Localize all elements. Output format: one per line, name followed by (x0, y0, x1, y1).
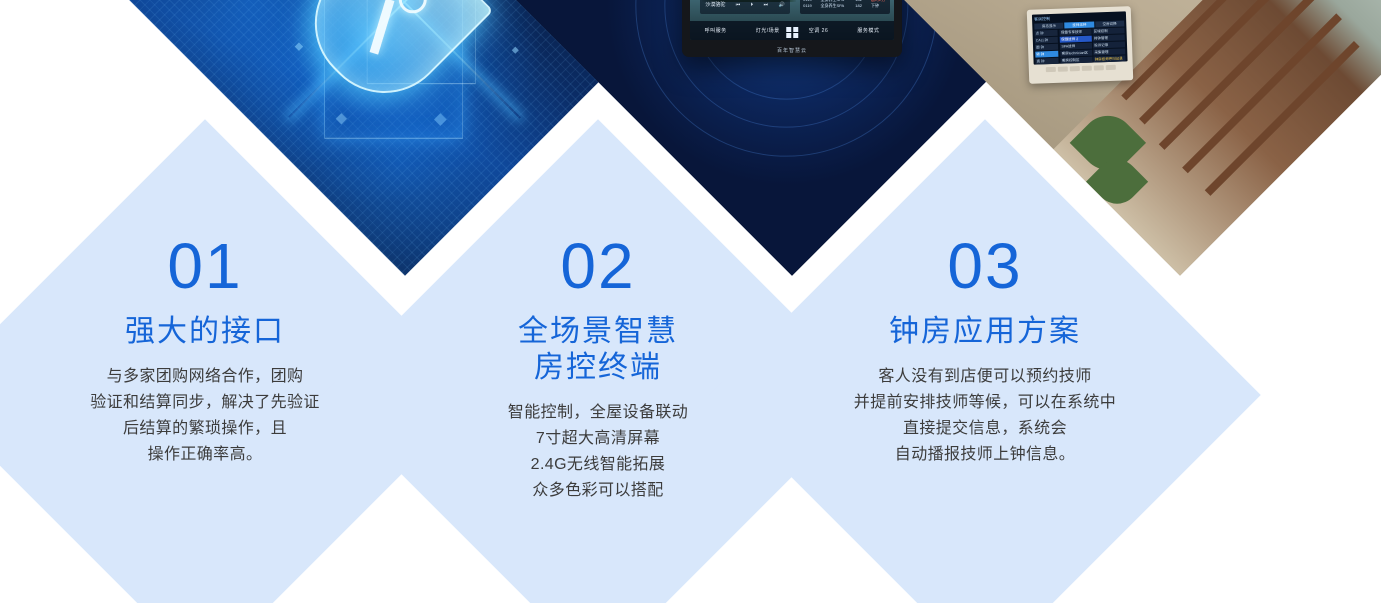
panel-side-menu[interactable]: 点 钟 CALL钟 圈 钟 转 钟 直 钟 (1034, 30, 1059, 65)
media-player-widget[interactable]: 沙漠骆驼 ⏮ ⏵ ⏭ 🔊 (700, 0, 790, 14)
tablet-screen: 22:35 SPA6房 26℃ 11/24 客人 项目 技师 状态 (690, 0, 894, 40)
panel-list-1[interactable]: 区域控制 (1093, 27, 1125, 34)
panel-button-2[interactable] (1058, 66, 1068, 71)
media-track-label: 沙漠骆驼 (705, 1, 725, 8)
panel-hard-buttons[interactable] (1034, 64, 1128, 72)
tablet-footer-brand: 百年智慧云 (682, 47, 902, 54)
panel-list-7[interactable]: 采集管理 (1093, 48, 1125, 55)
room-inner: 客房控制 房态显示 技师派钟 空房切换 点 钟 CALL钟 圈 钟 转 钟 直 … (985, 0, 1375, 195)
card-title: 全场景智慧 房控终端 (518, 314, 678, 386)
panel-list-8[interactable]: 客房控制区 (1061, 56, 1093, 63)
panel-side-0[interactable]: 点 钟 (1034, 30, 1058, 37)
panel-button-5[interactable] (1094, 65, 1104, 70)
table-row: 0119 全身养生SPA 182 下钟 (803, 3, 887, 9)
card-number: 01 (167, 234, 242, 298)
panel-tab-0[interactable]: 房态显示 (1034, 22, 1064, 29)
panel-screen: 客房控制 房态显示 技师派钟 空房切换 点 钟 CALL钟 圈 钟 转 钟 直 … (1032, 11, 1128, 64)
panel-list-0[interactable]: 保健专享技师 (1060, 28, 1092, 35)
panel-button-6[interactable] (1106, 64, 1116, 69)
card-body: 与多家团购网络合作，团购 验证和结算同步，解决了先验证 后结算的繁琐操作，且 操… (90, 364, 320, 468)
panel-list-2[interactable]: 保健技师 2 (1060, 35, 1092, 42)
panel-button-4[interactable] (1082, 65, 1092, 70)
diamond-feature-grid: CSUZBO 22:35 SPA6房 26℃ 11/24 (0, 0, 1381, 603)
panel-button-1[interactable] (1046, 67, 1056, 72)
panel-button-3[interactable] (1070, 66, 1080, 71)
panel-side-4[interactable]: 直 钟 (1035, 58, 1059, 65)
card-title: 钟房应用方案 (889, 314, 1081, 350)
panel-side-1[interactable]: CALL钟 (1035, 37, 1059, 44)
card-title: 强大的接口 (125, 314, 285, 350)
service-list[interactable]: 客人 项目 技师 状态 0119 全身养生SPA 182 下钟 0119 (800, 0, 890, 14)
action-call-service[interactable]: 呼叫服务 (705, 27, 727, 34)
app-grid-icon[interactable] (786, 27, 798, 39)
panel-list-9[interactable]: 钟房技师呼叫记录 (1093, 55, 1125, 62)
play-icon[interactable]: ⏵ (751, 2, 754, 8)
panel-list[interactable]: 保健专享技师 区域控制 保健技师 2 排钟管理 SPA技师 投诉记录 客房tec… (1060, 27, 1126, 63)
panel-tab-2[interactable]: 空房切换 (1095, 20, 1125, 27)
panel-list-5[interactable]: 投诉记录 (1093, 41, 1125, 48)
panel-list-3[interactable]: 排钟管理 (1093, 34, 1125, 41)
wall-control-panel[interactable]: 客房控制 房态显示 技师派钟 空房切换 点 钟 CALL钟 圈 钟 转 钟 直 … (1027, 6, 1134, 84)
action-aircon[interactable]: 空调 26 (809, 27, 828, 34)
panel-list-4[interactable]: SPA技师 (1060, 42, 1092, 49)
card-number: 03 (947, 234, 1022, 298)
terminal-inner: CSUZBO 22:35 SPA6房 26℃ 11/24 (597, 0, 987, 195)
card-body: 客人没有到店便可以预约技师 并提前安排技师等候，可以在系统中 直接提交信息，系统… (854, 364, 1116, 468)
action-lighting-scene[interactable]: 灯光/场景 (756, 27, 780, 34)
prev-icon[interactable]: ⏮ (736, 2, 741, 8)
next-icon[interactable]: ⏭ (764, 2, 769, 8)
action-service-mode[interactable]: 服务模式 (857, 27, 879, 34)
panel-tab-1[interactable]: 技师派钟 (1064, 21, 1094, 28)
key-stem-icon (369, 0, 394, 55)
panel-list-6[interactable]: 客房technician区 (1060, 49, 1092, 56)
panel-side-2[interactable]: 圈 钟 (1035, 44, 1059, 51)
tablet-device: CSUZBO 22:35 SPA6房 26℃ 11/24 (682, 0, 902, 57)
panel-side-3[interactable]: 转 钟 (1035, 51, 1059, 58)
volume-icon[interactable]: 🔊 (779, 2, 785, 8)
card-body: 智能控制，全屋设备联动 7寸超大高清屏幕 2.4G无线智能拓展 众多色彩可以搭配 (508, 400, 688, 504)
card-number: 02 (560, 234, 635, 298)
